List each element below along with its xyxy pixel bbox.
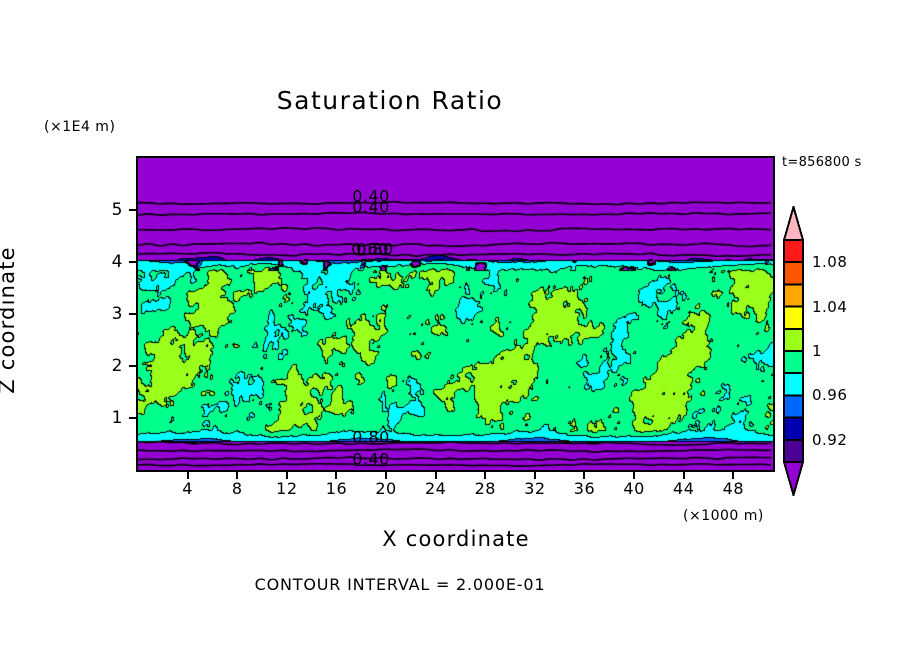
x-tick-mark (335, 472, 337, 479)
x-tick-label: 36 (574, 479, 595, 498)
contour-level-label: 0.80 (356, 240, 394, 259)
y-tick-label: 3 (112, 304, 123, 324)
x-tick-label: 40 (623, 479, 644, 498)
contour-field-canvas (138, 158, 773, 470)
x-axis-unit-label: (×1000 m) (683, 508, 764, 524)
x-tick-label: 12 (276, 479, 297, 498)
x-tick-label: 24 (425, 479, 446, 498)
page-title: Saturation Ratio (0, 86, 780, 115)
x-tick-mark (385, 472, 387, 479)
x-tick-mark (633, 472, 635, 479)
y-tick-label: 5 (112, 200, 123, 220)
x-tick-label: 44 (673, 479, 694, 498)
colorbar-tick-label: 0.92 (812, 431, 847, 449)
time-annotation: t=856800 s (782, 155, 862, 170)
y-axis-title: Z coordinate (0, 230, 19, 410)
y-tick-mark (129, 261, 136, 263)
y-tick-label: 2 (112, 356, 123, 376)
x-axis-title: X coordinate (136, 527, 776, 551)
y-tick-mark (129, 365, 136, 367)
contour-plot-area (136, 156, 775, 472)
y-tick-mark (129, 209, 136, 211)
x-tick-mark (236, 472, 238, 479)
y-tick-label: 1 (112, 408, 123, 428)
contour-interval-caption: CONTOUR INTERVAL = 2.000E-01 (0, 575, 800, 594)
x-tick-mark (583, 472, 585, 479)
colorbar (783, 206, 804, 496)
x-tick-mark (286, 472, 288, 479)
x-tick-mark (435, 472, 437, 479)
x-tick-label: 4 (182, 479, 193, 498)
y-tick-label: 4 (112, 252, 123, 272)
colorbar-tick-label: 1.08 (812, 253, 847, 271)
x-tick-label: 8 (232, 479, 243, 498)
x-tick-label: 32 (524, 479, 545, 498)
contour-level-label: 0.40 (352, 450, 390, 469)
colorbar-tick-label: 0.96 (812, 386, 847, 404)
x-tick-mark (187, 472, 189, 479)
contour-level-label: 0.80 (352, 428, 390, 447)
colorbar-tick-label: 1.04 (812, 298, 847, 316)
y-tick-mark (129, 417, 136, 419)
x-tick-mark (683, 472, 685, 479)
contour-level-label: 0.40 (352, 198, 390, 217)
y-tick-mark (129, 313, 136, 315)
x-tick-label: 20 (375, 479, 396, 498)
x-tick-label: 48 (723, 479, 744, 498)
x-tick-label: 16 (326, 479, 347, 498)
colorbar-tick-label: 1 (812, 342, 822, 360)
x-tick-mark (732, 472, 734, 479)
x-tick-label: 28 (475, 479, 496, 498)
y-axis-unit-label: (×1E4 m) (44, 119, 115, 135)
x-tick-mark (534, 472, 536, 479)
x-tick-mark (484, 472, 486, 479)
